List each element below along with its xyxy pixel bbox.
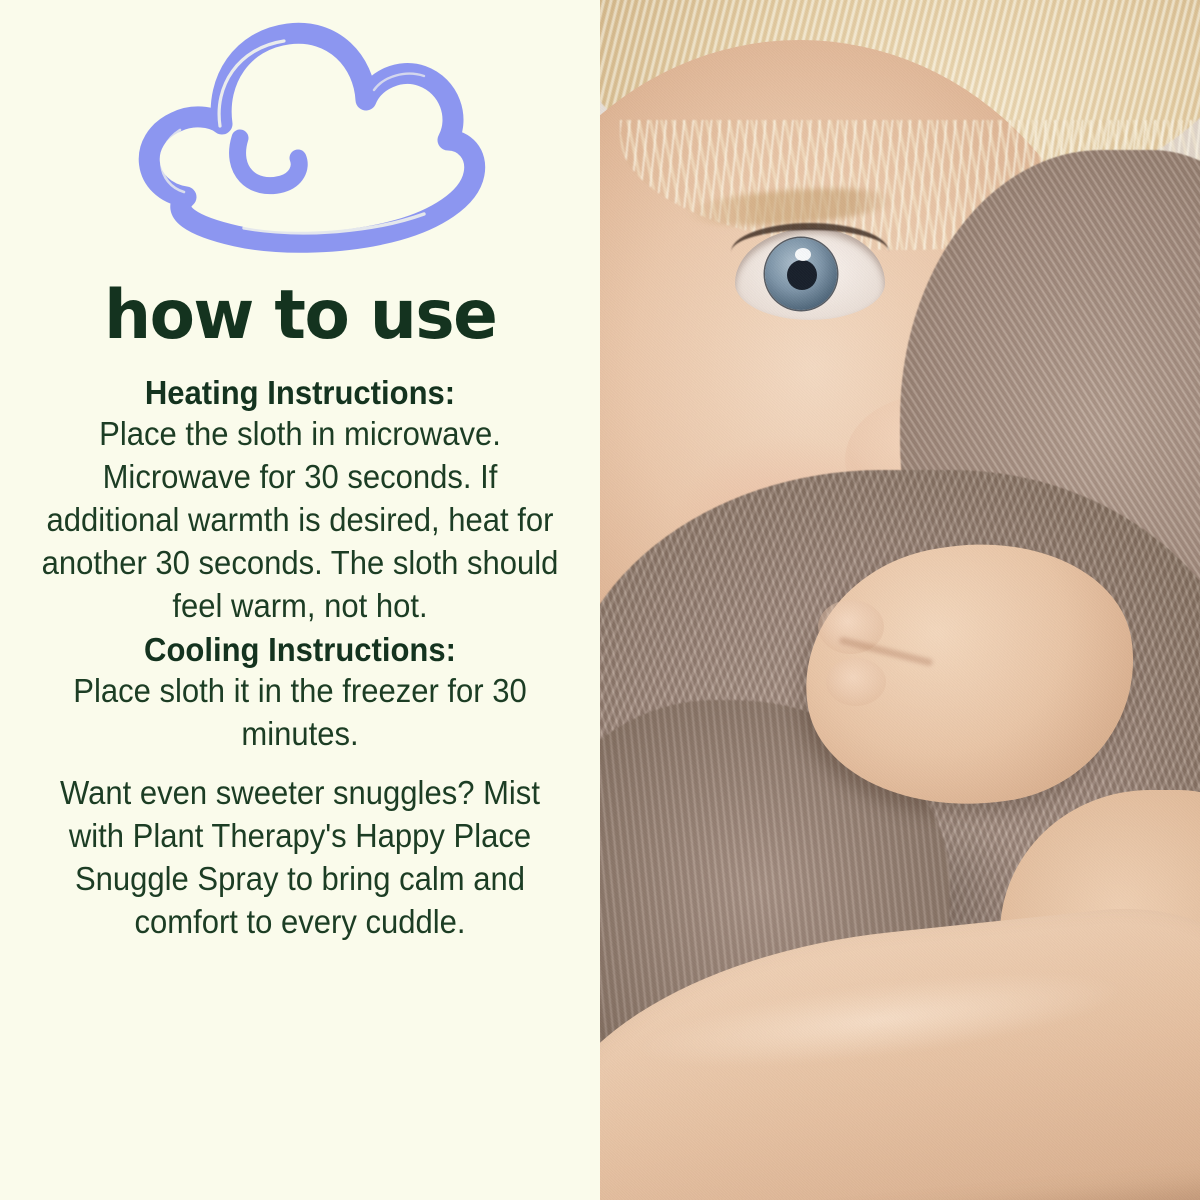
instructions-panel: how to use Heating Instructions: Place t…: [0, 0, 600, 1200]
child-eye-left: [735, 228, 885, 320]
cloud-icon: [112, 14, 492, 274]
heating-instructions-text: Place the sloth in microwave. Microwave …: [37, 413, 563, 627]
child-knuckle: [826, 658, 886, 706]
page-title: how to use: [104, 282, 496, 350]
eye-lashes: [731, 223, 889, 252]
heating-instructions-heading: Heating Instructions:: [37, 374, 563, 413]
instructions-body: Heating Instructions: Place the sloth in…: [20, 374, 580, 944]
product-lifestyle-photo: [600, 0, 1200, 1200]
cooling-instructions-heading: Cooling Instructions:: [37, 631, 563, 670]
cooling-instructions-text: Place sloth it in the freezer for 30 min…: [37, 670, 563, 756]
closing-spacer: [20, 756, 580, 772]
how-to-use-product-card: how to use Heating Instructions: Place t…: [0, 0, 1200, 1200]
eye-pupil: [787, 260, 817, 290]
closing-note-text: Want even sweeter snuggles? Mist with Pl…: [37, 772, 563, 944]
